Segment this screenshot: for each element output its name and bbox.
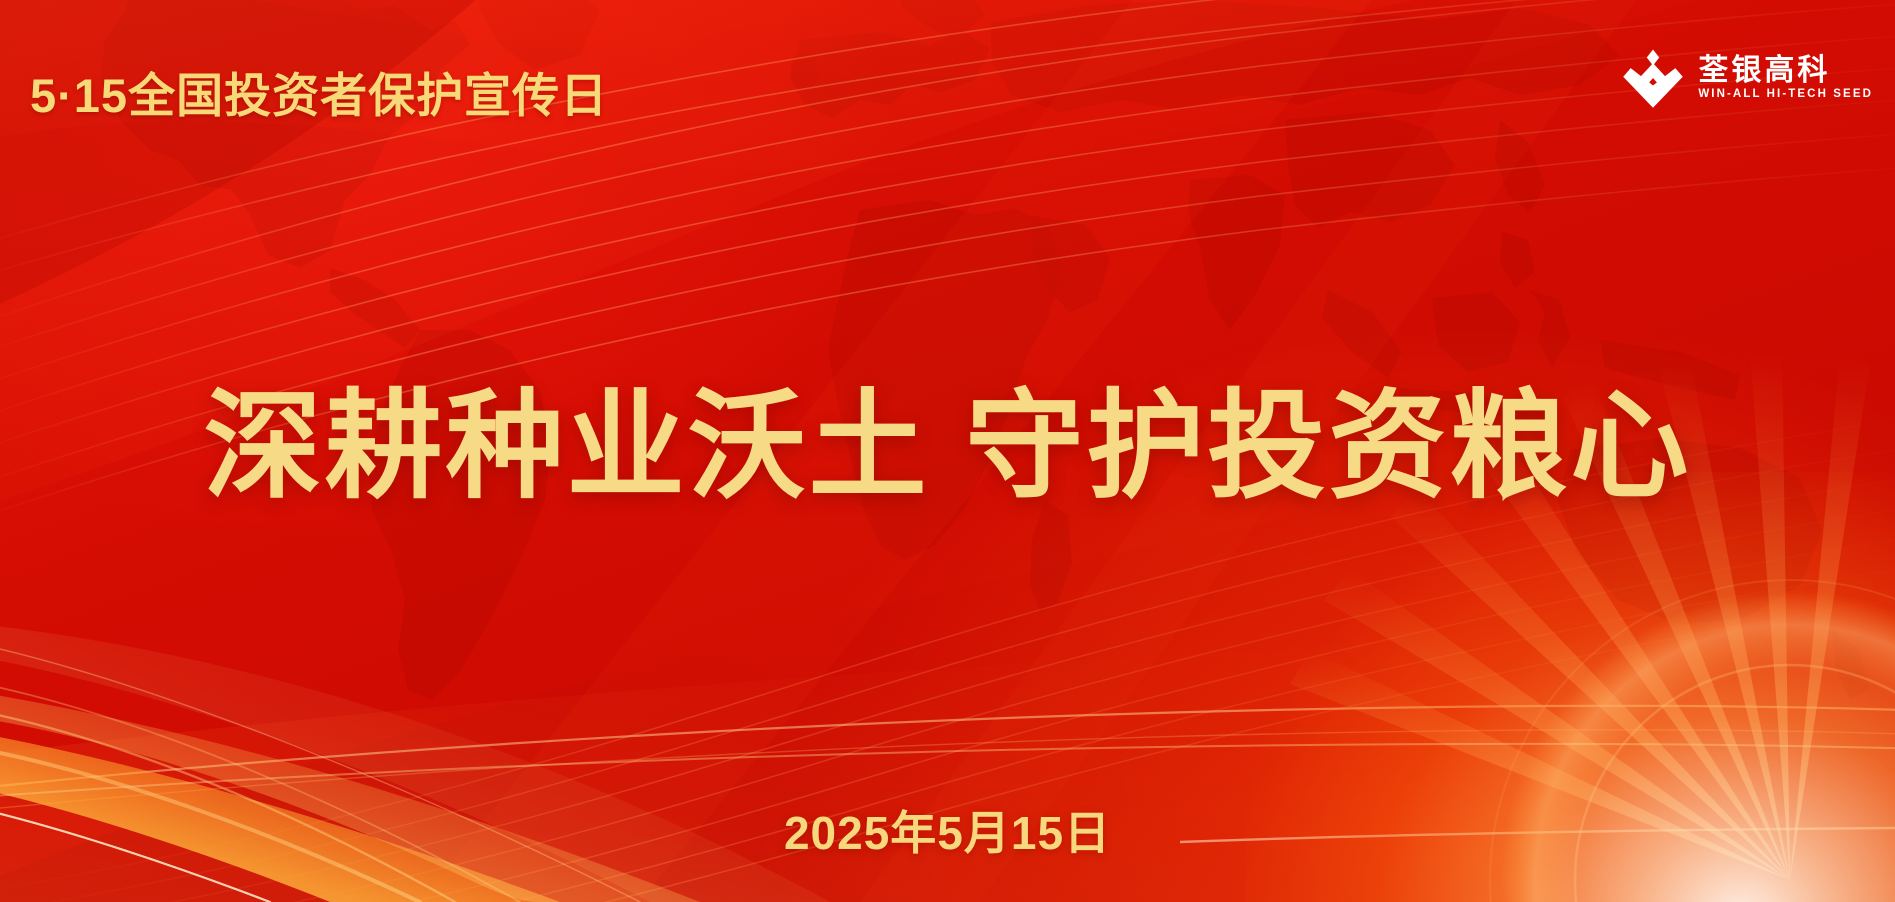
brand-name-en: WIN-ALL HI-TECH SEED [1698,89,1873,101]
event-banner: 5·15全国投资者保护宣传日 荃银高科 WIN-ALL HI-TECH SEED… [0,0,1895,902]
event-date: 2025年5月15日 [0,797,1895,863]
main-slogan-title: 深耕种业沃土 守护投资粮心 [0,350,1895,521]
banner-content: 5·15全国投资者保护宣传日 荃银高科 WIN-ALL HI-TECH SEED… [0,0,1895,902]
brand-lockup: 荃银高科 WIN-ALL HI-TECH SEED [1622,47,1873,109]
event-campaign-tag: 5·15全国投资者保护宣传日 [30,57,608,126]
chevron-seed-mark-icon [1622,47,1684,109]
brand-name-cn: 荃银高科 [1698,56,1873,86]
brand-text: 荃银高科 WIN-ALL HI-TECH SEED [1698,56,1873,101]
